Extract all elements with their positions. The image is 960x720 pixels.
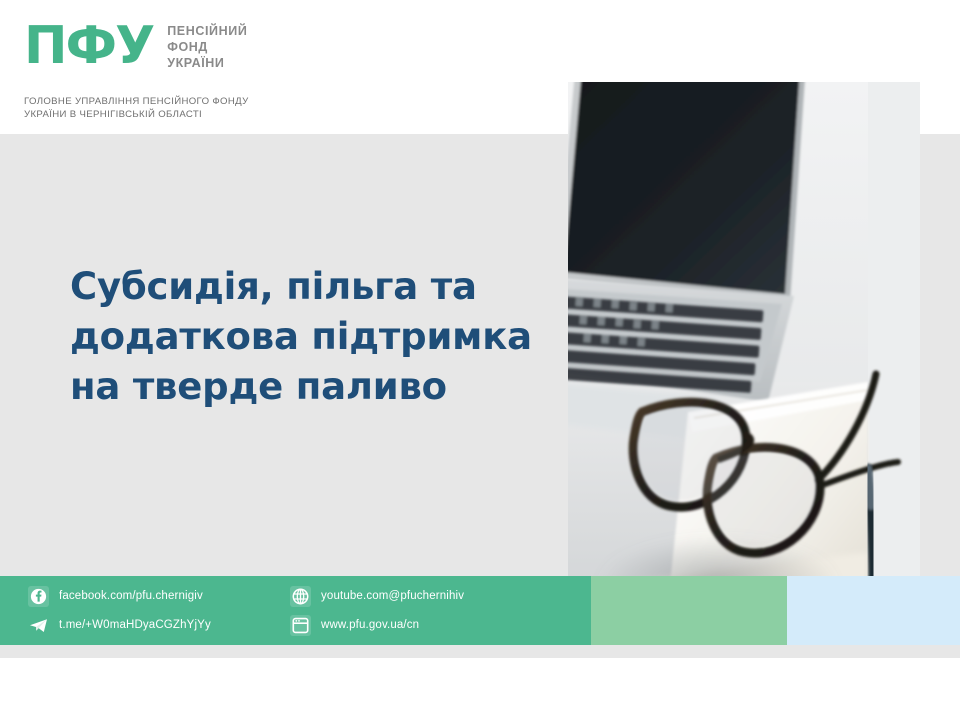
contact-telegram[interactable]: t.me/+W0maHDyaCGZhYjYy bbox=[28, 614, 211, 636]
slide-title-line-2: додаткова підтримка bbox=[70, 312, 540, 362]
contact-telegram-text: t.me/+W0maHDyaCGZhYjYy bbox=[59, 619, 211, 631]
footer-contacts-left: facebook.com/pfu.chernigiv t.me/+W0maHDy… bbox=[28, 585, 211, 636]
slide-title: Субсидія, пільга та додаткова підтримка … bbox=[70, 262, 540, 412]
contact-facebook[interactable]: facebook.com/pfu.chernigiv bbox=[28, 585, 211, 607]
slide-title-line-3: на тверде паливо bbox=[70, 362, 540, 412]
contact-website[interactable]: www.pfu.gov.ua/cn bbox=[290, 614, 464, 636]
desk-photo bbox=[568, 82, 920, 652]
contact-website-text: www.pfu.gov.ua/cn bbox=[321, 619, 419, 631]
organization-subtitle: ГОЛОВНЕ УПРАВЛІННЯ ПЕНСІЙНОГО ФОНДУ УКРА… bbox=[24, 95, 324, 121]
organization-subtitle-line-1: ГОЛОВНЕ УПРАВЛІННЯ ПЕНСІЙНОГО ФОНДУ bbox=[24, 95, 324, 108]
slide-canvas: ПФУ ПЕНСІЙНИЙ ФОНД УКРАЇНИ ГОЛОВНЕ УПРАВ… bbox=[0, 0, 960, 720]
footer-contacts-right: youtube.com@pfuchernihiv www.pfu.gov.ua/… bbox=[290, 585, 464, 636]
logo-word-line-3: УКРАЇНИ bbox=[167, 55, 247, 71]
accent-block-green bbox=[591, 576, 787, 645]
facebook-icon bbox=[28, 586, 49, 607]
contact-youtube-text: youtube.com@pfuchernihiv bbox=[321, 590, 464, 602]
logo-word-line-2: ФОНД bbox=[167, 39, 247, 55]
pfu-logo: ПФУ ПЕНСІЙНИЙ ФОНД УКРАЇНИ bbox=[24, 18, 247, 74]
browser-window-icon bbox=[290, 615, 311, 636]
telegram-icon bbox=[28, 615, 49, 636]
bottom-white-strip bbox=[0, 658, 960, 720]
slide-title-line-1: Субсидія, пільга та bbox=[70, 262, 540, 312]
globe-icon bbox=[290, 586, 311, 607]
contact-facebook-text: facebook.com/pfu.chernigiv bbox=[59, 590, 203, 602]
contact-youtube[interactable]: youtube.com@pfuchernihiv bbox=[290, 585, 464, 607]
pfu-logo-mark: ПФУ bbox=[24, 18, 153, 74]
logo-word-line-1: ПЕНСІЙНИЙ bbox=[167, 23, 247, 39]
accent-block-blue bbox=[787, 576, 960, 645]
desk-photo-illustration bbox=[568, 82, 920, 652]
organization-subtitle-line-2: УКРАЇНИ В ЧЕРНІГІВСЬКІЙ ОБЛАСТІ bbox=[24, 108, 324, 121]
pfu-logo-words: ПЕНСІЙНИЙ ФОНД УКРАЇНИ bbox=[167, 18, 247, 71]
